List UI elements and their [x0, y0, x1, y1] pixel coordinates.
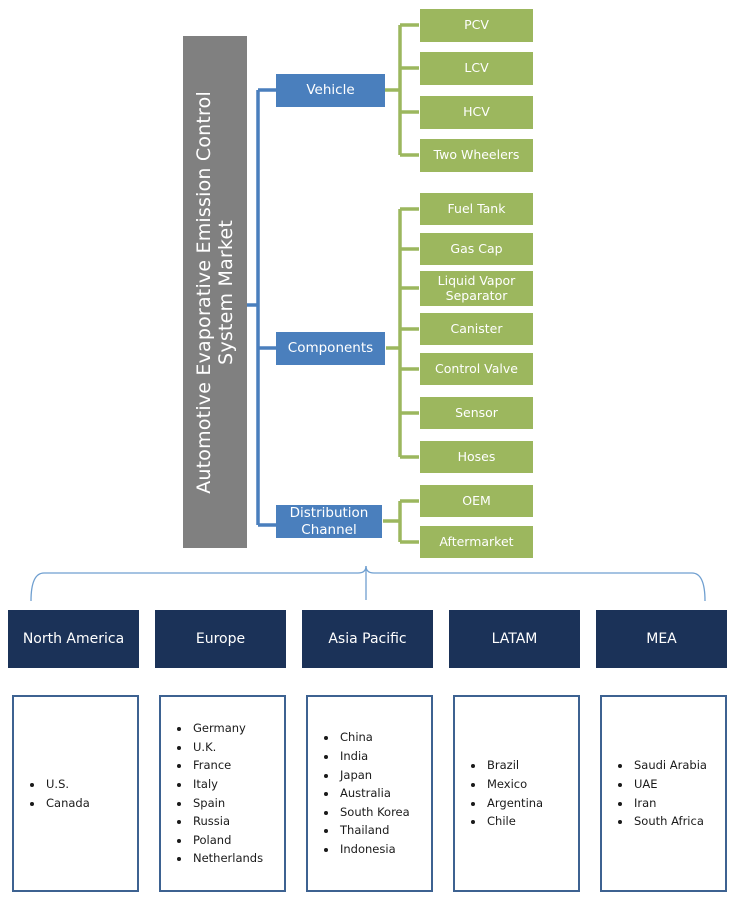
root-market-title-bar: Automotive Evaporative Emission Control … [183, 36, 247, 548]
leaf-label-control-valve: Control Valve [435, 362, 518, 377]
country-item: South Africa [632, 812, 725, 831]
country-item: Iran [632, 794, 725, 813]
region-list-asia-pacific: ChinaIndiaJapanAustraliaSouth KoreaThail… [306, 695, 433, 892]
leaf-label-canister: Canister [450, 322, 502, 337]
region-header-label-latam: LATAM [492, 631, 538, 647]
leaf-box-two-wheelers[interactable]: Two Wheelers [420, 139, 533, 172]
leaf-label-hoses: Hoses [458, 450, 496, 465]
leaf-box-fuel-tank[interactable]: Fuel Tank [420, 193, 533, 225]
leaf-label-lcv: LCV [464, 61, 488, 76]
root-title-line-2: System Market [215, 91, 237, 494]
country-item: Italy [191, 775, 284, 794]
country-item: UAE [632, 775, 725, 794]
country-item: Poland [191, 831, 284, 850]
region-list-north-america: U.S.Canada [12, 695, 139, 892]
region-header-label-asia-pacific: Asia Pacific [328, 631, 406, 647]
country-list-latam: BrazilMexicoArgentinaChile [455, 756, 578, 831]
country-item: U.K. [191, 738, 284, 757]
country-item: Germany [191, 719, 284, 738]
country-item: Chile [485, 812, 578, 831]
leaf-label-sensor: Sensor [455, 406, 498, 421]
region-header-europe[interactable]: Europe [155, 610, 286, 668]
leaf-label-gas-cap: Gas Cap [450, 242, 502, 257]
country-item: Canada [44, 794, 137, 813]
region-header-label-mea: MEA [646, 631, 677, 647]
leaf-label-fuel-tank: Fuel Tank [448, 202, 506, 217]
segment-label-vehicle: Vehicle [306, 82, 354, 98]
region-header-label-north-america: North America [23, 631, 124, 647]
country-item: India [338, 747, 431, 766]
country-item: Mexico [485, 775, 578, 794]
segment-label-distribution-channel: Distribution Channel [280, 505, 378, 537]
country-item: Netherlands [191, 849, 284, 868]
leaf-box-liquid-vapor-separator[interactable]: Liquid Vapor Separator [420, 271, 533, 306]
leaf-box-hoses[interactable]: Hoses [420, 441, 533, 473]
leaf-box-pcv[interactable]: PCV [420, 9, 533, 42]
country-item: U.S. [44, 775, 137, 794]
leaf-label-liquid-vapor-separator: Liquid Vapor Separator [423, 274, 530, 304]
leaf-box-gas-cap[interactable]: Gas Cap [420, 233, 533, 265]
country-list-mea: Saudi ArabiaUAEIranSouth Africa [602, 756, 725, 831]
country-item: Saudi Arabia [632, 756, 725, 775]
region-list-mea: Saudi ArabiaUAEIranSouth Africa [600, 695, 727, 892]
country-item: China [338, 728, 431, 747]
country-list-europe: GermanyU.K.FranceItalySpainRussiaPolandN… [161, 719, 284, 868]
country-item: Brazil [485, 756, 578, 775]
region-header-mea[interactable]: MEA [596, 610, 727, 668]
region-list-latam: BrazilMexicoArgentinaChile [453, 695, 580, 892]
country-item: Argentina [485, 794, 578, 813]
region-header-latam[interactable]: LATAM [449, 610, 580, 668]
leaf-box-canister[interactable]: Canister [420, 313, 533, 345]
region-list-europe: GermanyU.K.FranceItalySpainRussiaPolandN… [159, 695, 286, 892]
leaf-box-aftermarket[interactable]: Aftermarket [420, 526, 533, 558]
root-market-title-text: Automotive Evaporative Emission Control … [193, 91, 238, 494]
leaf-label-two-wheelers: Two Wheelers [434, 148, 520, 163]
country-item: Indonesia [338, 840, 431, 859]
region-header-label-europe: Europe [196, 631, 245, 647]
segment-box-components[interactable]: Components [276, 332, 385, 365]
country-item: France [191, 756, 284, 775]
country-list-north-america: U.S.Canada [14, 775, 137, 812]
country-item: South Korea [338, 803, 431, 822]
leaf-box-lcv[interactable]: LCV [420, 52, 533, 85]
region-header-north-america[interactable]: North America [8, 610, 139, 668]
leaf-label-aftermarket: Aftermarket [439, 535, 513, 550]
country-item: Japan [338, 766, 431, 785]
regions-brace [31, 566, 705, 601]
leaf-box-oem[interactable]: OEM [420, 485, 533, 517]
leaf-label-pcv: PCV [464, 18, 489, 33]
segment-label-components: Components [288, 340, 373, 356]
segment-box-distribution-channel[interactable]: Distribution Channel [276, 505, 382, 538]
country-item: Spain [191, 794, 284, 813]
leaf-label-hcv: HCV [463, 105, 490, 120]
segment-box-vehicle[interactable]: Vehicle [276, 74, 385, 107]
country-item: Russia [191, 812, 284, 831]
leaf-label-oem: OEM [462, 494, 491, 509]
country-list-asia-pacific: ChinaIndiaJapanAustraliaSouth KoreaThail… [308, 728, 431, 858]
country-item: Australia [338, 784, 431, 803]
leaf-box-hcv[interactable]: HCV [420, 96, 533, 129]
leaf-box-control-valve[interactable]: Control Valve [420, 353, 533, 385]
root-title-line-1: Automotive Evaporative Emission Control [193, 91, 215, 494]
region-header-asia-pacific[interactable]: Asia Pacific [302, 610, 433, 668]
country-item: Thailand [338, 821, 431, 840]
leaf-box-sensor[interactable]: Sensor [420, 397, 533, 429]
